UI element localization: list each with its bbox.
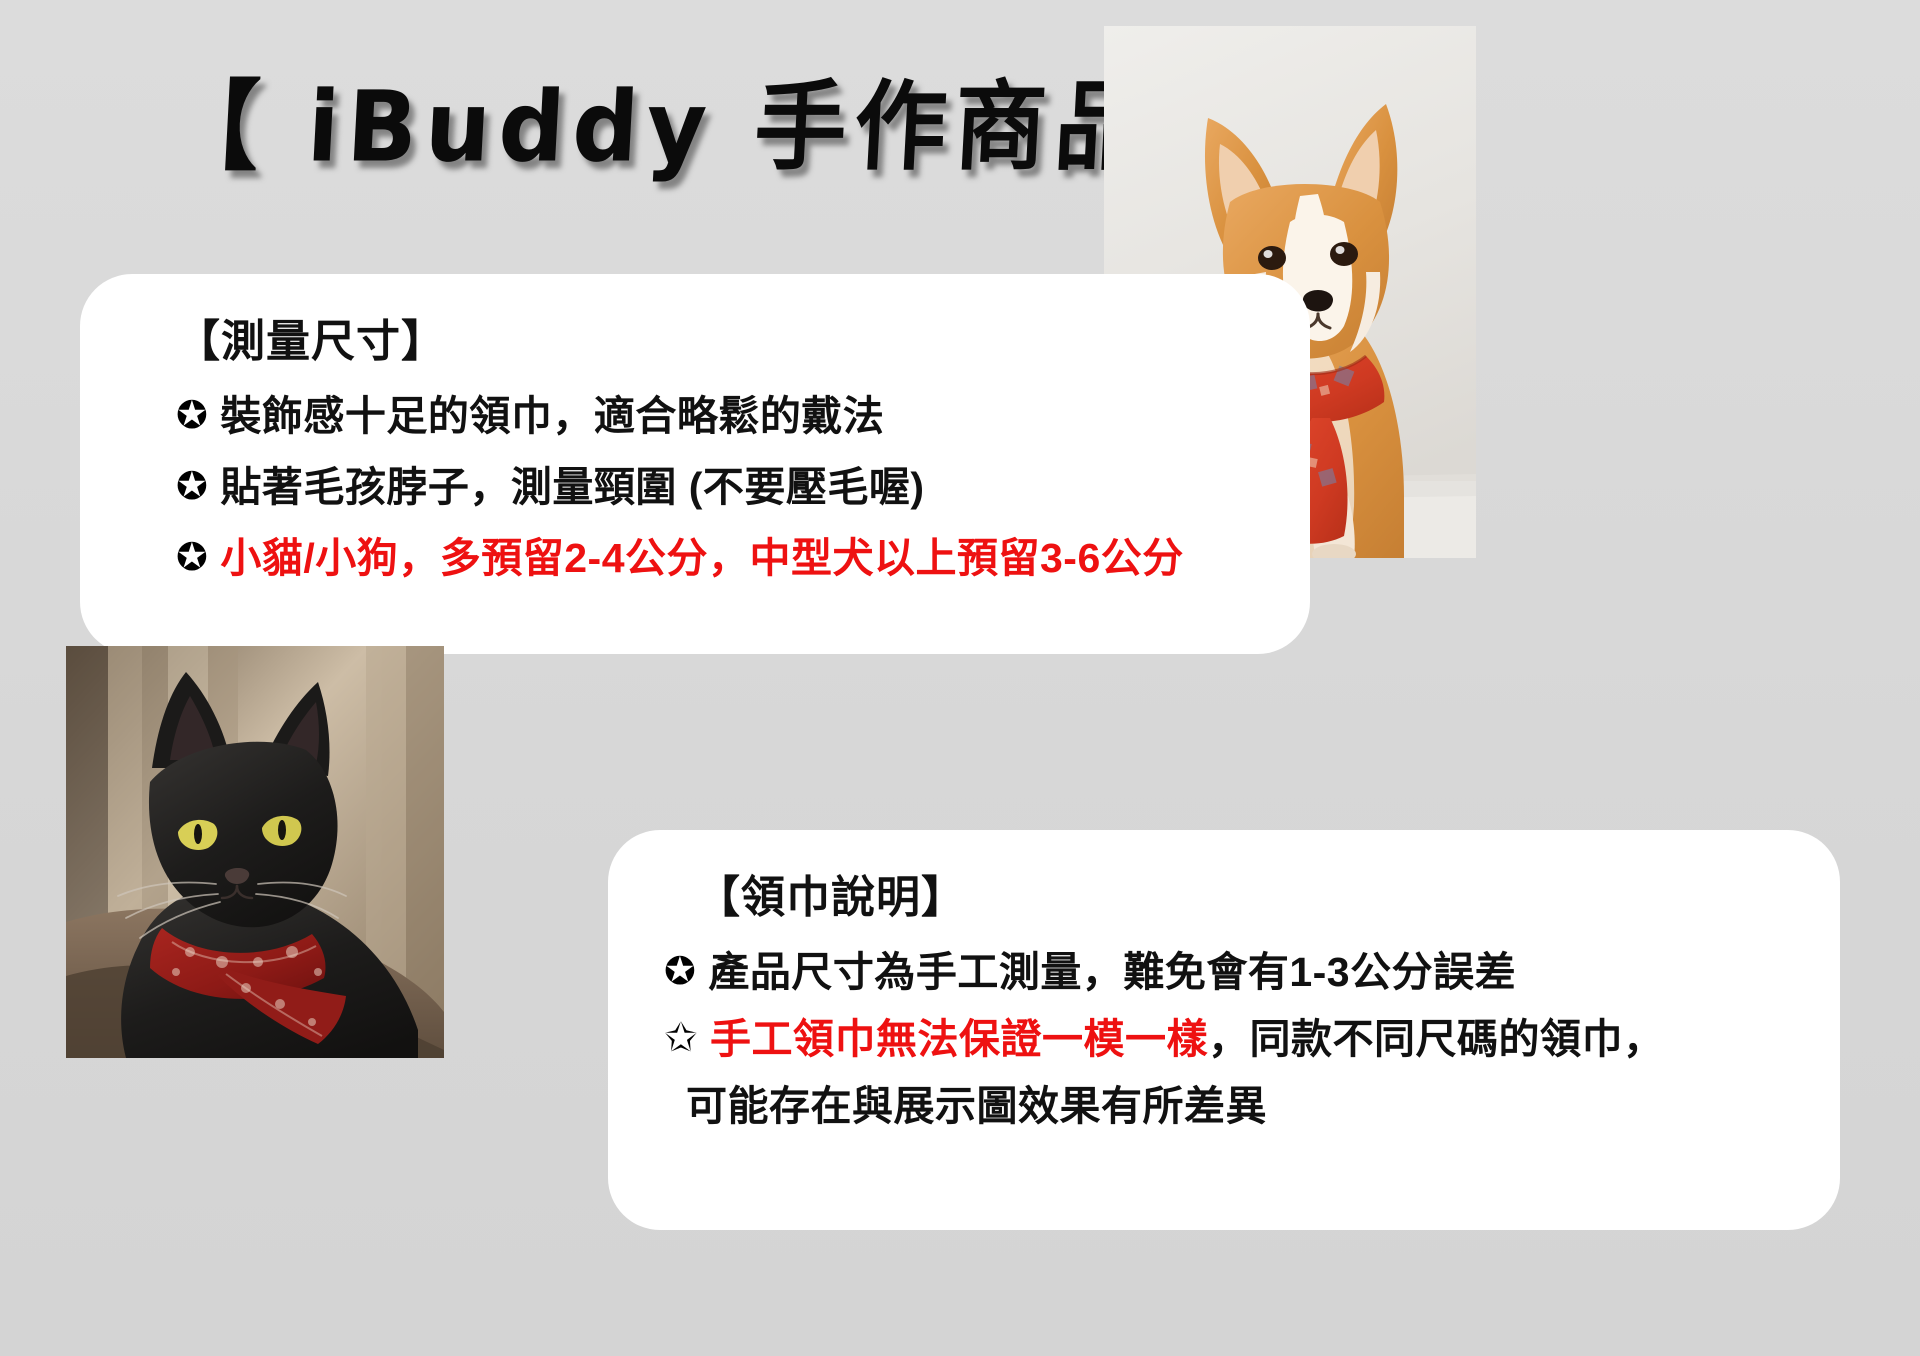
star-filled-circle-icon: ✪: [176, 397, 208, 435]
scarf-description-card: 【領巾說明】 ✪ 產品尺寸為手工測量，難免會有1-3公分誤差 ✩ 手工領巾無法保…: [608, 830, 1840, 1230]
measurement-card-heading: 【測量尺寸】: [176, 318, 1310, 366]
scarf-description-card-heading: 【領巾說明】: [696, 874, 1840, 922]
measurement-bullet-1: ✪ 裝飾感十足的領巾，適合略鬆的戴法: [176, 396, 1310, 437]
scarf-bullet-2-text-red: 手工領巾無法保證一模一樣: [710, 1019, 1208, 1060]
scarf-bullet-1-text: 產品尺寸為手工測量，難免會有1-3公分誤差: [708, 952, 1516, 993]
measurement-bullet-2-text: 貼著毛孩脖子，測量頸圍 (不要壓毛喔): [220, 467, 924, 508]
star-filled-circle-icon: ✪: [664, 953, 696, 991]
scarf-bullet-2-text-black: ，同款不同尺碼的領巾，: [1208, 1019, 1665, 1060]
star-outline-icon: ✩: [664, 1018, 698, 1058]
scarf-continuation-line: 可能存在與展示圖效果有所差異: [686, 1086, 1840, 1127]
poster-canvas: 【 iBuddy 手作商品 】: [0, 0, 1920, 1356]
scarf-bullet-1: ✪ 產品尺寸為手工測量，難免會有1-3公分誤差: [664, 952, 1840, 993]
measurement-bullet-2: ✪ 貼著毛孩脖子，測量頸圍 (不要壓毛喔): [176, 467, 1310, 508]
star-filled-circle-icon: ✪: [176, 539, 208, 577]
scarf-bullet-2: ✩ 手工領巾無法保證一模一樣，同款不同尺碼的領巾，: [664, 1019, 1840, 1060]
measurement-card: 【測量尺寸】 ✪ 裝飾感十足的領巾，適合略鬆的戴法 ✪ 貼著毛孩脖子，測量頸圍 …: [80, 274, 1310, 654]
black-cat-with-red-bandana-photo: [66, 646, 444, 1058]
star-filled-circle-icon: ✪: [176, 468, 208, 506]
measurement-bullet-3-text: 小貓/小狗，多預留2-4公分，中型犬以上預留3-6公分: [220, 538, 1183, 579]
measurement-bullet-3: ✪ 小貓/小狗，多預留2-4公分，中型犬以上預留3-6公分: [176, 538, 1310, 579]
measurement-bullet-1-text: 裝飾感十足的領巾，適合略鬆的戴法: [220, 396, 884, 437]
